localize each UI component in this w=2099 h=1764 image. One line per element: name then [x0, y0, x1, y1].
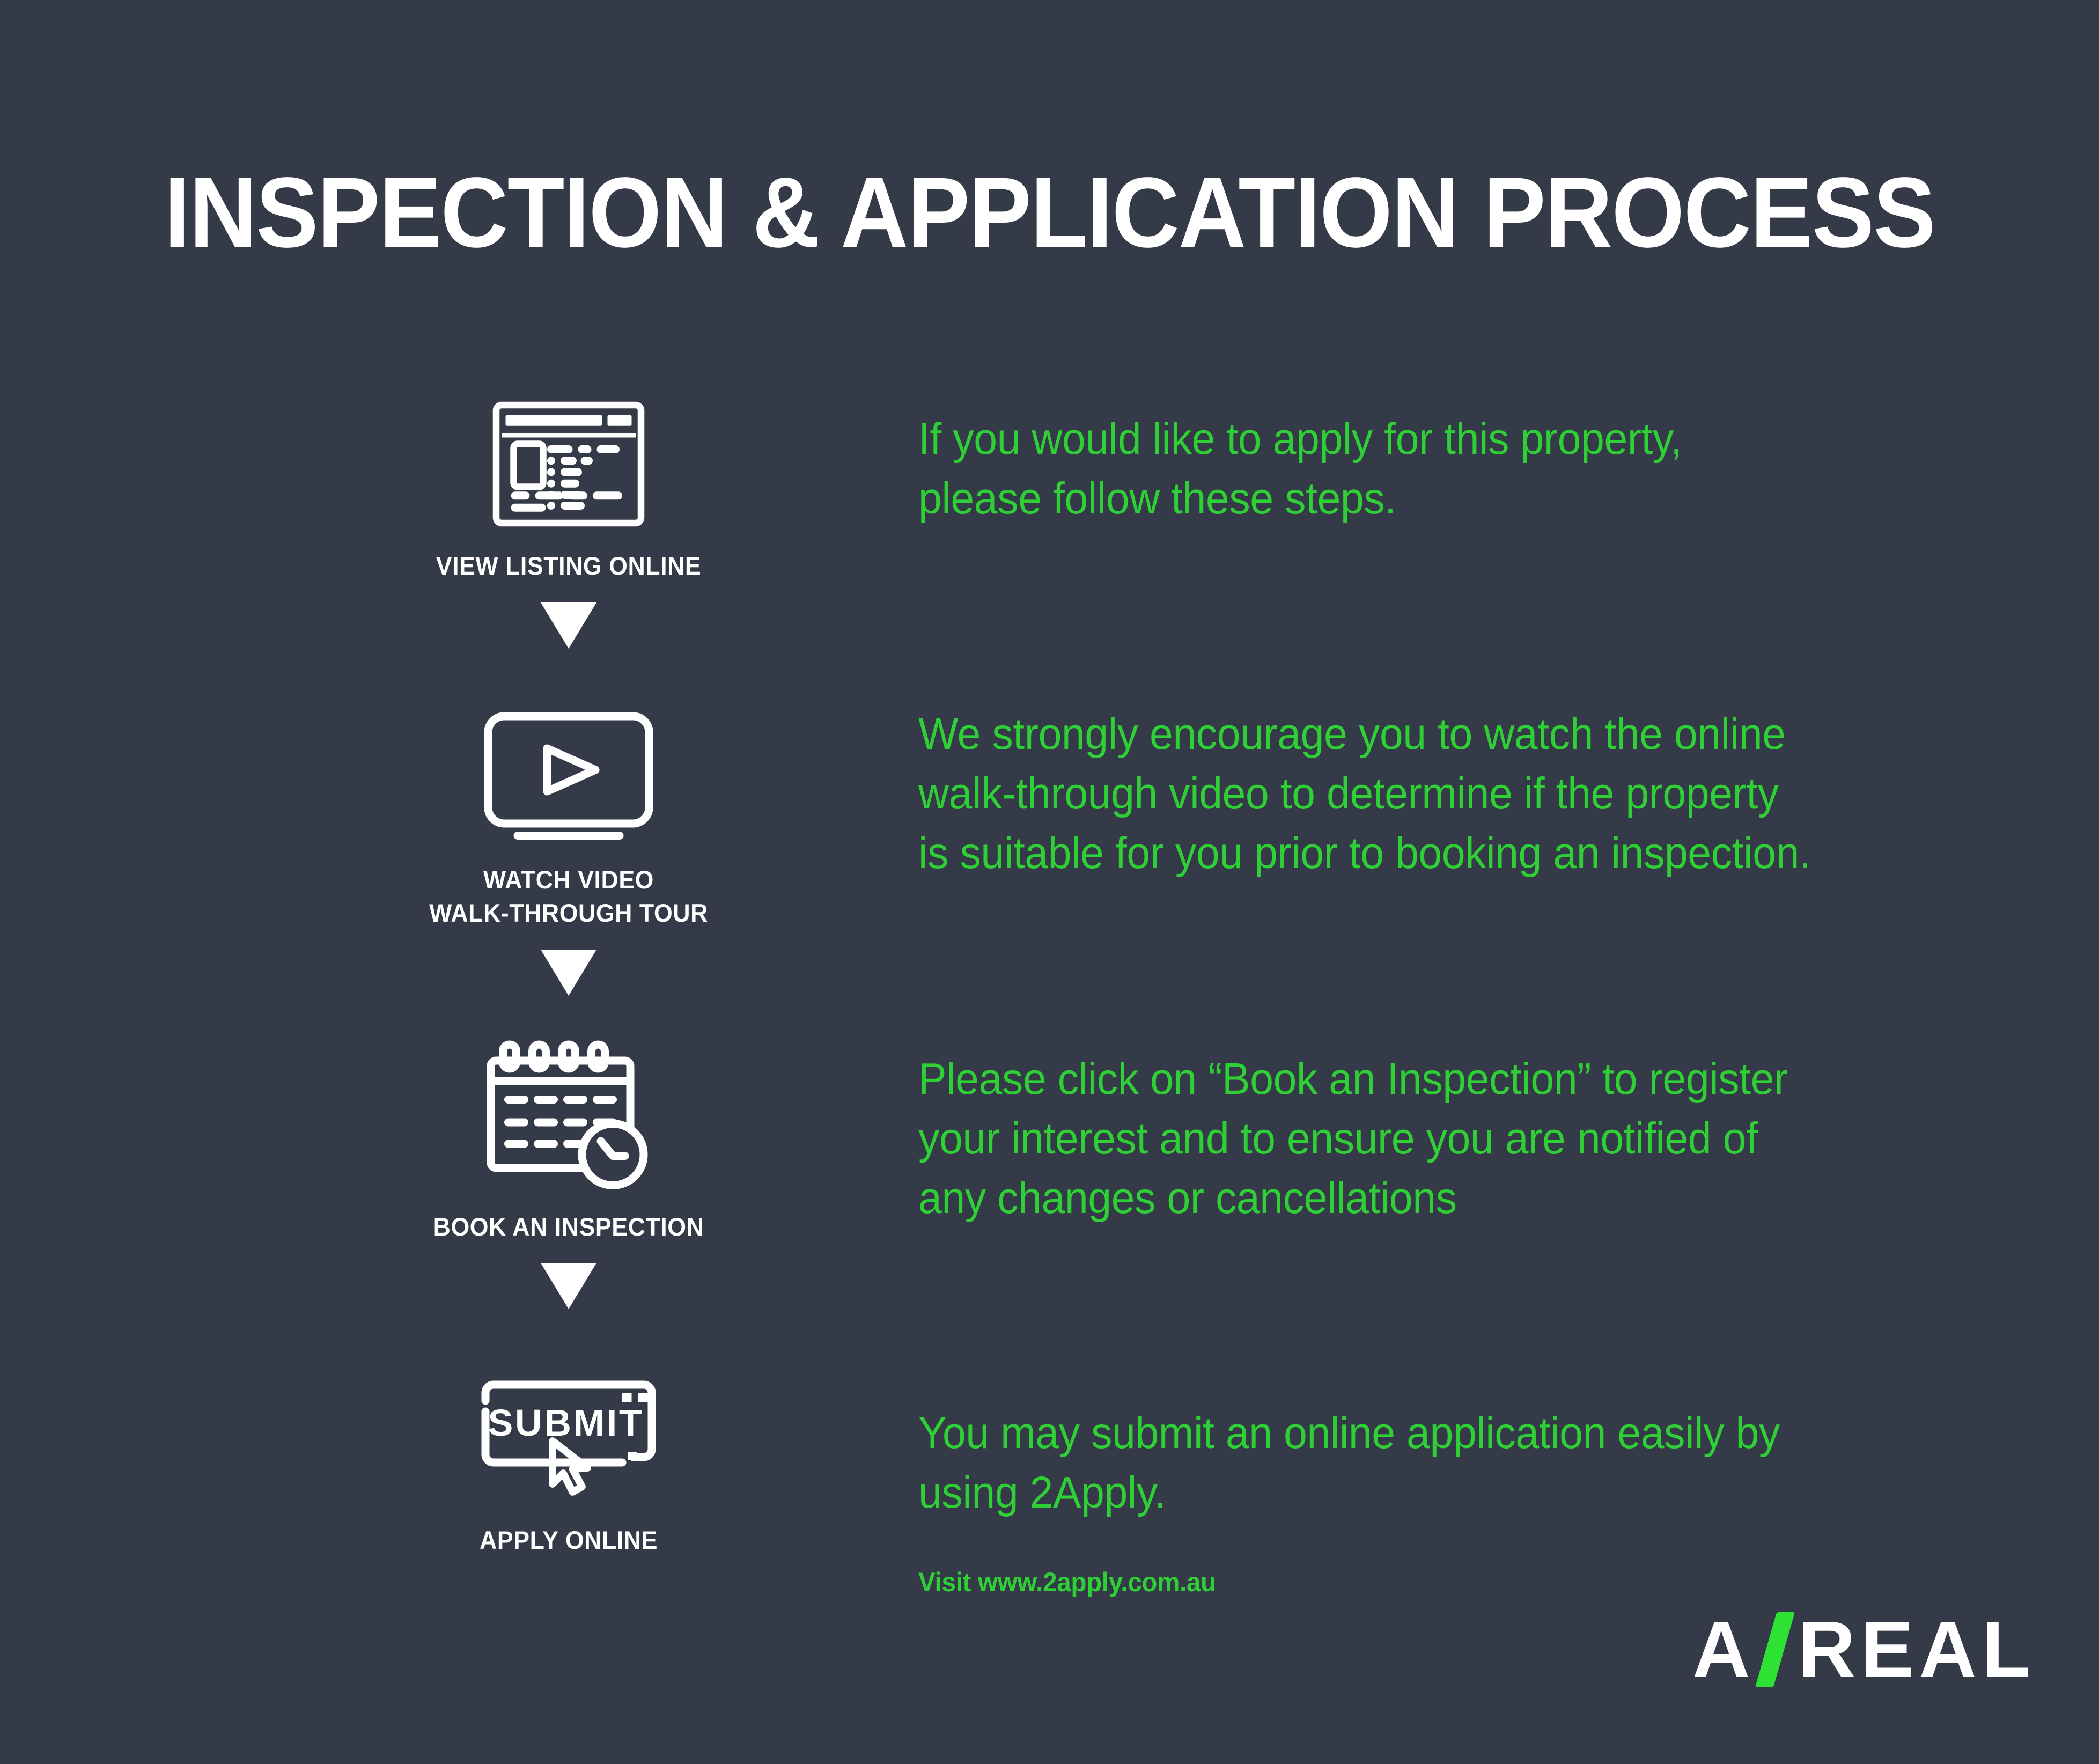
logo-letter-a: A: [1692, 1610, 1755, 1689]
step-label-view-listing: VIEW LISTING ONLINE: [385, 549, 752, 583]
logo-slash-icon: [1755, 1612, 1795, 1687]
logo-word-real: REAL: [1798, 1610, 2036, 1689]
step-description-watch-video: We strongly encourage you to watch the o…: [918, 704, 1876, 883]
browser-listing-icon: [375, 354, 762, 531]
visit-url-line[interactable]: Visit www.2apply.com.au: [918, 1567, 1216, 1598]
step-description-apply-online: You may submit an online application eas…: [918, 1403, 1831, 1522]
step-label-book-inspection: BOOK AN INSPECTION: [385, 1210, 752, 1244]
process-step-book-inspection: BOOK AN INSPECTION: [375, 1015, 762, 1244]
submit-button-cursor-icon: SUBMIT: [375, 1328, 762, 1505]
process-step-watch-video: WATCH VIDEO WALK-THROUGH TOUR: [375, 668, 762, 930]
step-description-view-listing: If you would like to apply for this prop…: [918, 409, 1785, 528]
arrow-down-1-icon: [375, 602, 762, 649]
arrow-down-2-icon: [375, 950, 762, 996]
step-label-watch-video: WATCH VIDEO WALK-THROUGH TOUR: [385, 863, 752, 930]
page-title: INSPECTION & APPLICATION PROCESS: [63, 156, 2036, 270]
process-flow: VIEW LISTING ONLINE WATCH VIDEO WALK-THR…: [375, 354, 762, 1557]
process-step-view-listing: VIEW LISTING ONLINE: [375, 354, 762, 583]
brand-logo: A REAL: [1692, 1604, 2036, 1695]
step-label-apply-online: APPLY ONLINE: [385, 1524, 752, 1557]
process-step-apply-online: SUBMIT APPLY ONLINE: [375, 1328, 762, 1557]
calendar-clock-icon: [375, 1015, 762, 1192]
step-description-book-inspection: Please click on “Book an Inspection” to …: [918, 1049, 1831, 1228]
poster-canvas: INSPECTION & APPLICATION PROCESS: [0, 0, 2099, 1764]
submit-icon-text: SUBMIT: [488, 1402, 644, 1444]
arrow-down-3-icon: [375, 1263, 762, 1309]
video-play-monitor-icon: [375, 668, 762, 845]
